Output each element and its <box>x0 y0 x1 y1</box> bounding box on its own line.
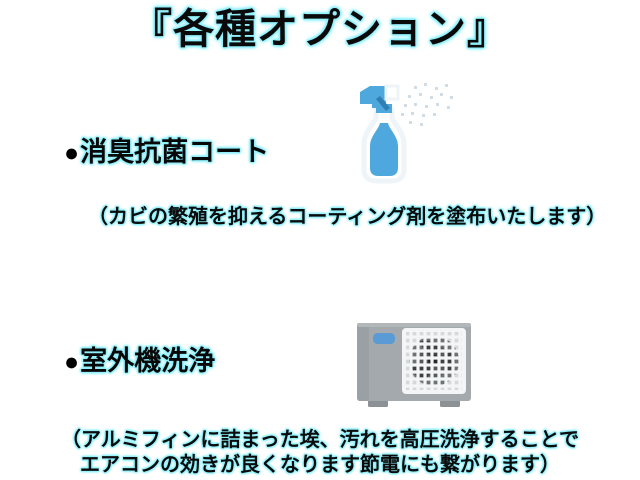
outdoor-ac-unit-illustration <box>344 312 484 412</box>
page-title: 『各種オプション』 <box>0 4 640 54</box>
bullet-marker-icon: ● <box>64 139 79 167</box>
caption-line-2: エアコンの効きが良くなります節電にも繋がります） <box>0 453 640 478</box>
option-heading-outdoor-unit-wash: ●室外機洗浄 <box>64 345 215 378</box>
trigger-head-top <box>360 86 386 92</box>
spray-bottle-illustration <box>352 78 472 190</box>
nozzle <box>386 86 398 99</box>
unit-badge <box>373 333 395 344</box>
bullet-marker-icon: ● <box>64 348 79 376</box>
spray-bottle-icon <box>352 78 472 190</box>
slide-canvas: 『各種オプション』 ●消臭抗菌コート （カビの繁殖を抑えるコーティング剤を塗布い… <box>0 0 640 480</box>
spray-mist-icon <box>401 83 453 126</box>
option-heading-label: 室外機洗浄 <box>80 346 215 376</box>
option-caption-outdoor-unit-wash: （アルミフィンに詰まった埃、汚れを高圧洗浄することで エアコンの効きが良くなりま… <box>0 428 640 478</box>
caption-line-1: （アルミフィンに詰まった埃、汚れを高圧洗浄することで <box>0 428 640 453</box>
option-heading-deodorant-coat: ●消臭抗菌コート <box>64 136 269 169</box>
option-caption-deodorant-coat: （カビの繁殖を抑えるコーティング剤を塗布いたします） <box>88 205 606 230</box>
outdoor-ac-unit-icon <box>344 312 484 412</box>
unit-top-edge <box>357 323 471 327</box>
option-heading-label: 消臭抗菌コート <box>80 137 269 167</box>
unit-side-panel <box>357 323 369 401</box>
